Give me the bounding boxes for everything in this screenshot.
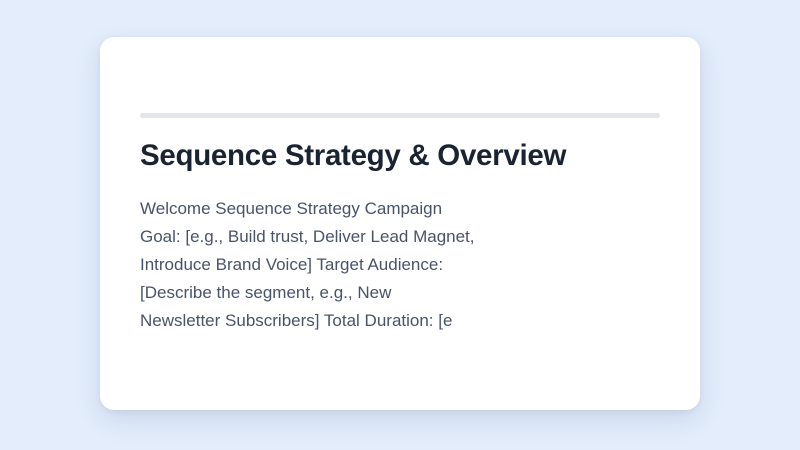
page-title: Sequence Strategy & Overview: [140, 137, 660, 175]
card-content: Sequence Strategy & Overview Welcome Seq…: [140, 37, 660, 410]
document-card: Sequence Strategy & Overview Welcome Seq…: [100, 37, 700, 410]
document-body-text: Welcome Sequence Strategy Campaign Goal:…: [140, 195, 476, 335]
page-canvas: Sequence Strategy & Overview Welcome Seq…: [0, 0, 800, 450]
section-divider: [140, 113, 660, 118]
